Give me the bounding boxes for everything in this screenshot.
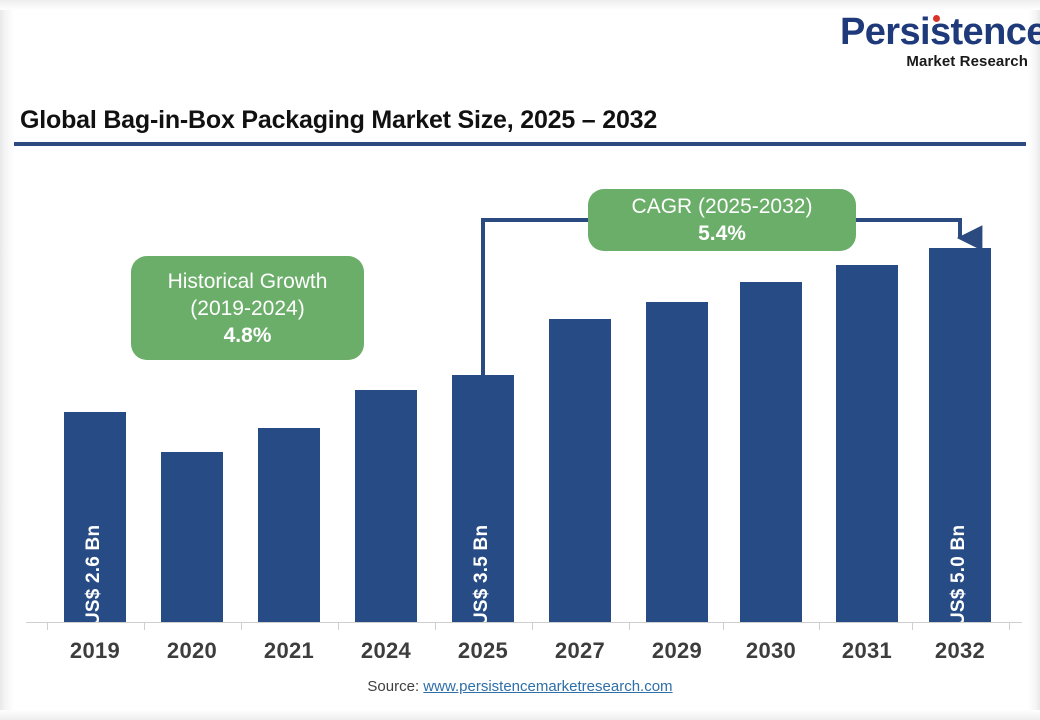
x-axis-tick: [1009, 622, 1010, 630]
x-axis-tick: [532, 622, 533, 630]
x-axis-tick: [912, 622, 913, 630]
x-axis-tick: [338, 622, 339, 630]
cagr-connector-right: [848, 220, 960, 238]
historical-callout-line1: Historical Growth: [168, 268, 328, 295]
source-prefix: Source:: [367, 678, 423, 695]
cagr-callout-line1: CAGR (2025-2032): [632, 193, 813, 220]
cagr-callout-value: 5.4%: [698, 220, 746, 247]
x-axis-label-2030: 2030: [723, 638, 819, 664]
bar-2020: [161, 452, 223, 622]
x-axis-label-2024: 2024: [338, 638, 434, 664]
source-link[interactable]: www.persistencemarketresearch.com: [423, 678, 672, 695]
x-axis-line: [26, 622, 1022, 623]
x-axis-label-2019: 2019: [47, 638, 143, 664]
x-axis-label-2021: 2021: [241, 638, 337, 664]
bar-2024: [355, 390, 417, 622]
chart-page: Persistence Market Research Global Bag-i…: [0, 0, 1040, 720]
bar-2029: [646, 302, 708, 622]
bar-2030: [740, 282, 802, 622]
bar-2027: [549, 319, 611, 622]
chart-plot-area: US$ 2.6 BnUS$ 3.5 BnUS$ 5.0 Bn 201920202…: [0, 0, 1040, 720]
cagr-callout: CAGR (2025-2032) 5.4%: [588, 189, 856, 251]
bar-value-label-2032: US$ 5.0 Bn: [948, 525, 970, 626]
x-axis-label-2031: 2031: [819, 638, 915, 664]
x-axis-tick: [47, 622, 48, 630]
x-axis-label-2029: 2029: [629, 638, 725, 664]
x-axis-label-2020: 2020: [144, 638, 240, 664]
historical-callout-value: 4.8%: [224, 322, 272, 349]
bar-2021: [258, 428, 320, 622]
bar-value-label-2019: US$ 2.6 Bn: [83, 525, 105, 626]
x-axis-label-2027: 2027: [532, 638, 628, 664]
bar-2031: [836, 265, 898, 622]
x-axis-tick: [723, 622, 724, 630]
source-note: Source: www.persistencemarketresearch.co…: [0, 678, 1040, 695]
x-axis-label-2025: 2025: [435, 638, 531, 664]
bar-value-label-2025: US$ 3.5 Bn: [471, 525, 493, 626]
x-axis-tick: [241, 622, 242, 630]
x-axis-tick: [435, 622, 436, 630]
x-axis-tick: [629, 622, 630, 630]
x-axis-tick: [144, 622, 145, 630]
x-axis-tick: [819, 622, 820, 630]
historical-growth-callout: Historical Growth (2019-2024) 4.8%: [131, 256, 364, 360]
x-axis-label-2032: 2032: [912, 638, 1008, 664]
historical-callout-line2: (2019-2024): [190, 295, 304, 322]
